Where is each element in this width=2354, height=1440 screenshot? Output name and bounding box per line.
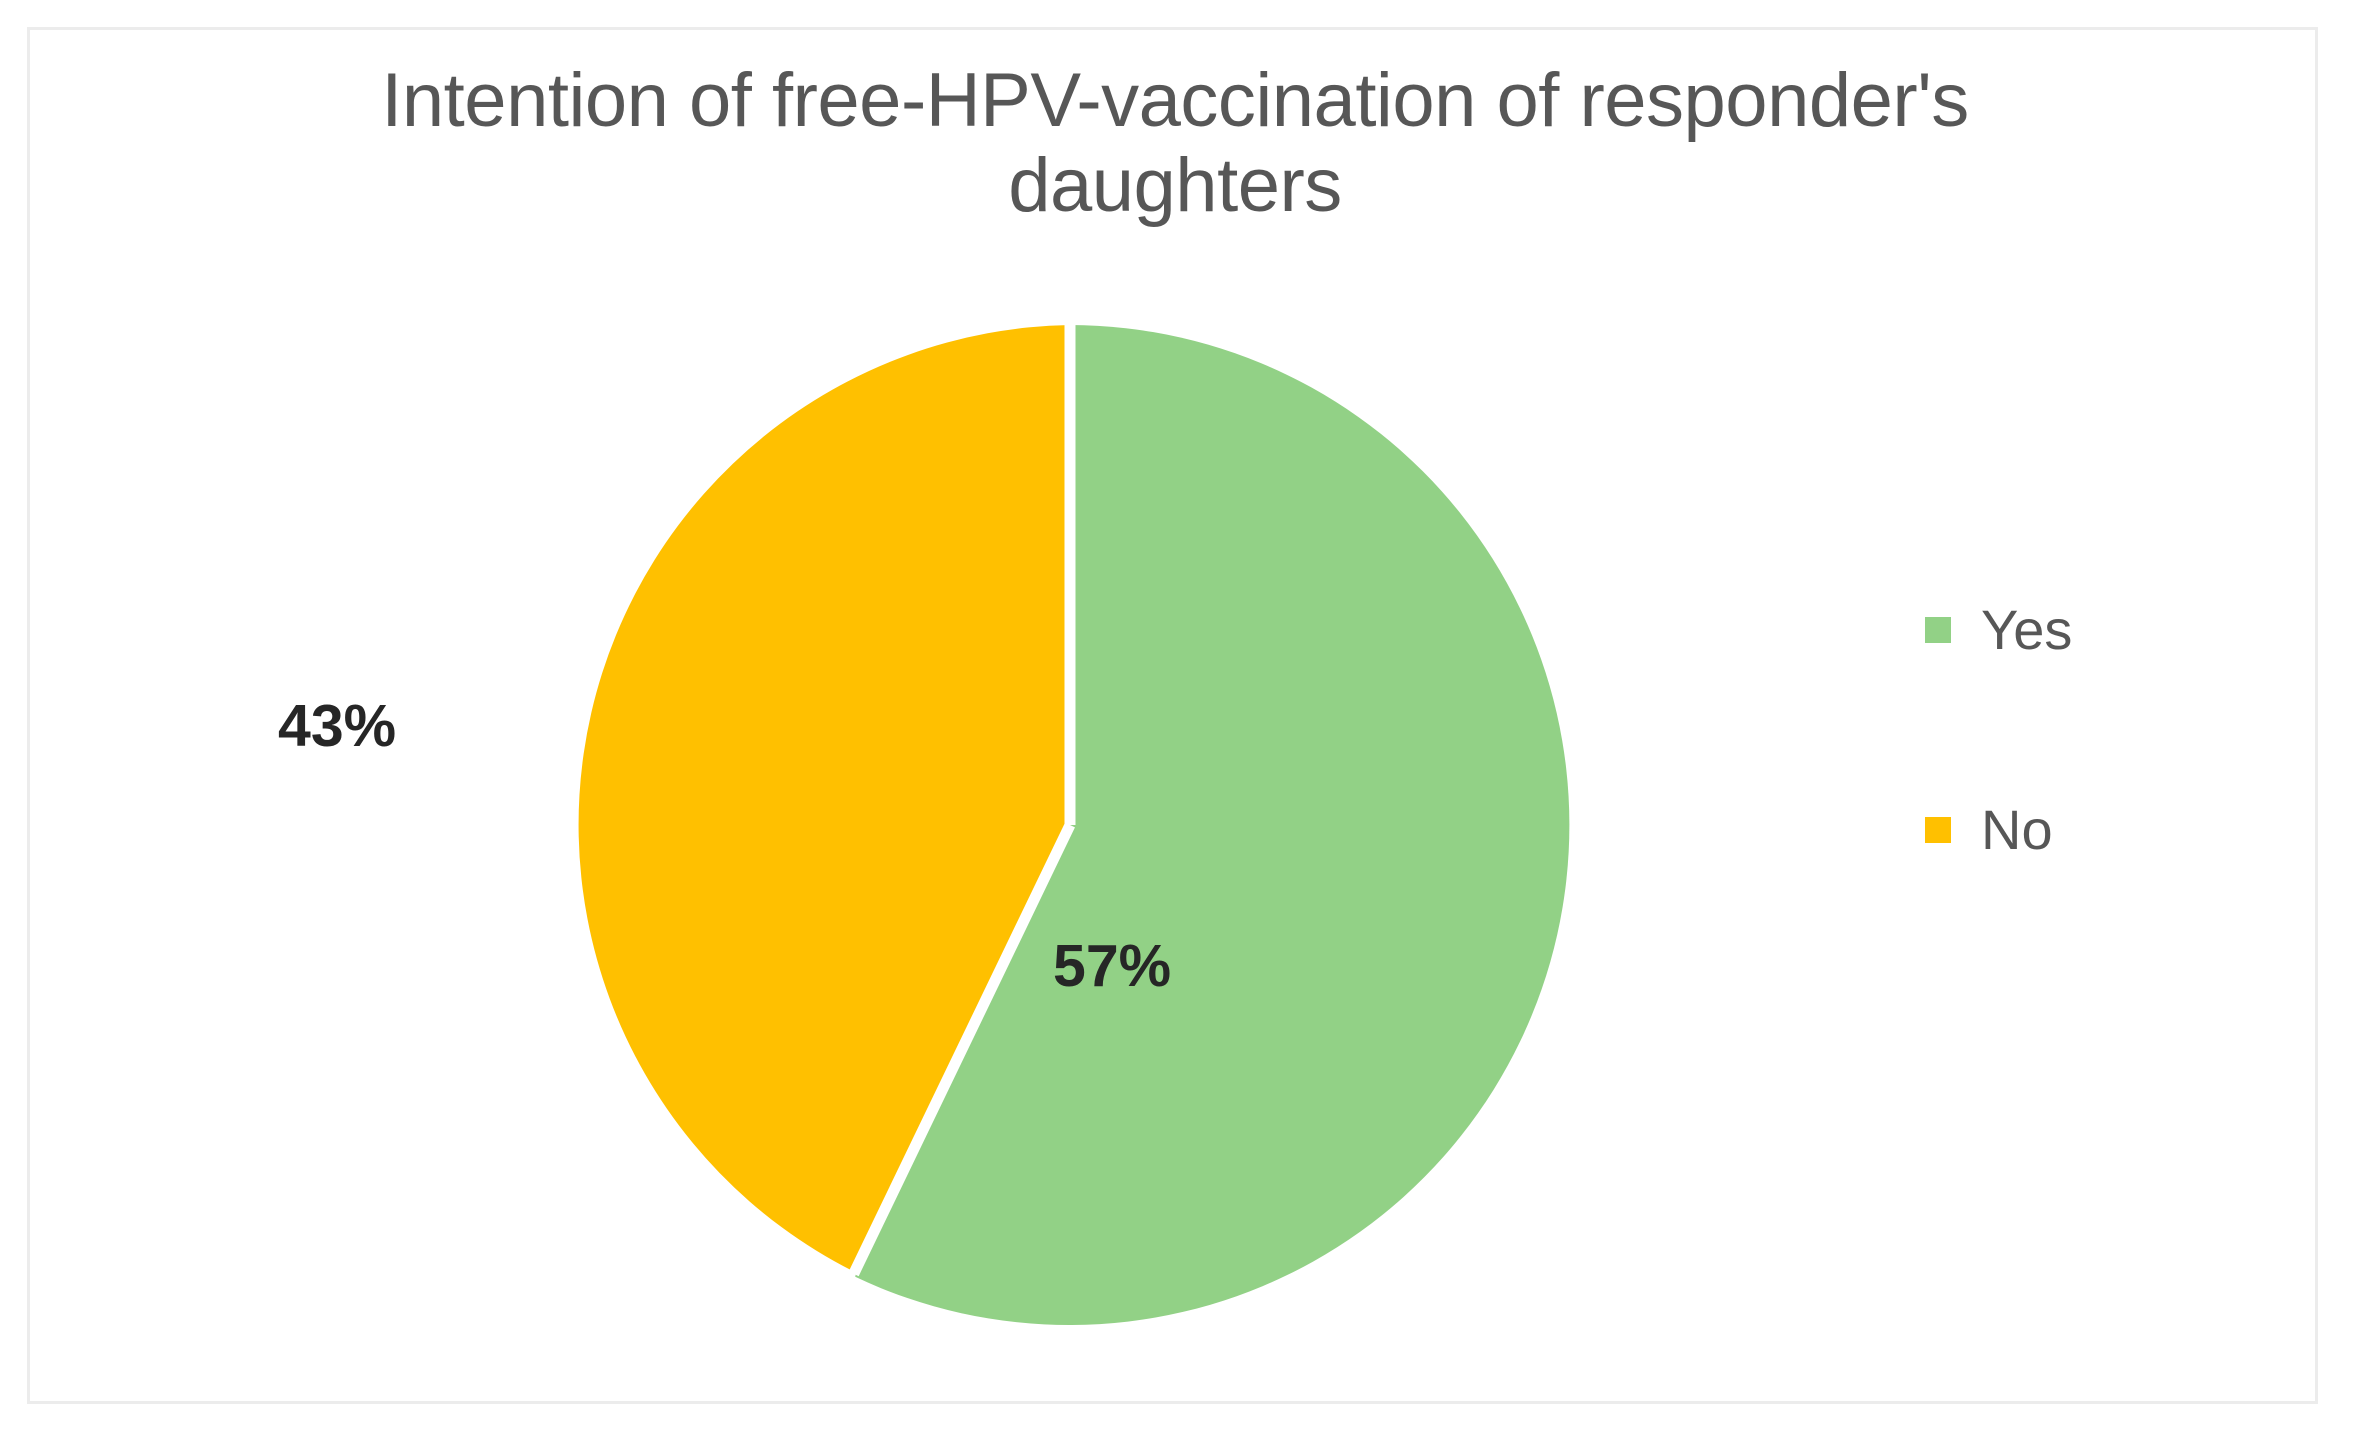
legend-item-no[interactable]: No	[1925, 730, 2265, 930]
legend-label-yes: Yes	[1981, 602, 2072, 658]
data-label-no: 43%	[278, 692, 396, 760]
data-label-yes: 57%	[1053, 932, 1171, 1000]
legend-swatch-no-icon	[1925, 817, 1951, 843]
legend-swatch-yes-icon	[1925, 617, 1951, 643]
chart-frame: Intention of free-HPV-vaccination of res…	[27, 27, 2318, 1404]
pie-chart	[555, 310, 1585, 1340]
legend: Yes No	[1925, 530, 2265, 930]
legend-item-yes[interactable]: Yes	[1925, 530, 2265, 730]
plot-area: 43% 57% Yes No	[30, 30, 2321, 1407]
legend-label-no: No	[1981, 802, 2053, 858]
